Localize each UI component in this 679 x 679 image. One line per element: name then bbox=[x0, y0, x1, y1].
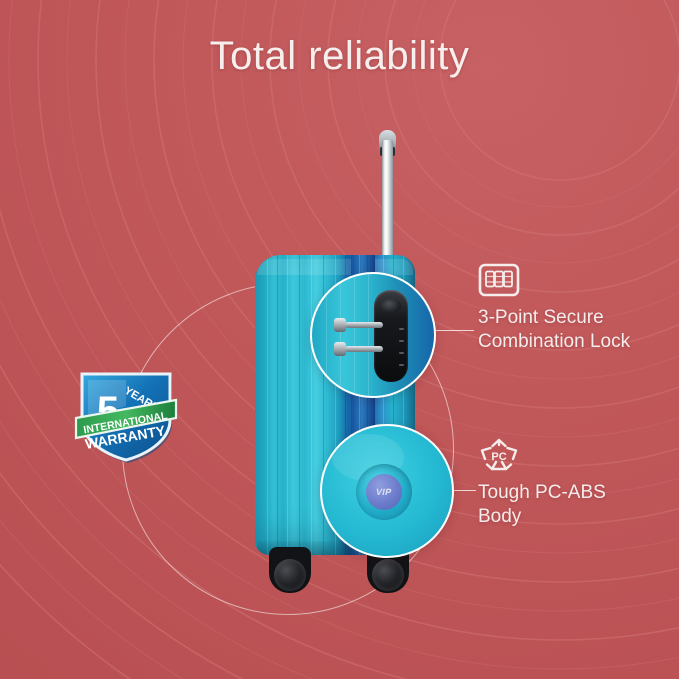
combination-lock-icon bbox=[478, 262, 520, 298]
zipper-pull-upper bbox=[345, 322, 383, 328]
magnifier-combination-lock bbox=[310, 272, 436, 398]
pc-recycle-icon: PC bbox=[478, 437, 520, 473]
zipper-pull-lower bbox=[345, 346, 383, 352]
feature-combination-lock: 3-Point Secure Combination Lock bbox=[478, 262, 630, 355]
combination-lock-hardware bbox=[374, 290, 408, 382]
lock-dial bbox=[381, 299, 401, 313]
brand-logo-text: VIP bbox=[375, 487, 393, 497]
magnifier-pc-abs-body: VIP bbox=[320, 424, 454, 558]
spinner-wheel-left bbox=[269, 547, 311, 593]
warranty-badge: 5 YEARS INTERNATIONAL WARRANTY bbox=[74, 366, 178, 464]
logo-badge: VIP bbox=[366, 474, 402, 510]
product-feature-banner: Total reliability bbox=[0, 0, 679, 679]
feature-pc-abs-body: PC Tough PC-ABS Body bbox=[478, 437, 606, 530]
feature-label: Tough PC-ABS Body bbox=[478, 481, 606, 530]
connector-line-body bbox=[452, 490, 476, 491]
connector-line-lock bbox=[434, 330, 474, 331]
svg-text:PC: PC bbox=[491, 451, 506, 463]
logo-badge-ring: VIP bbox=[356, 464, 412, 520]
telescoping-handle bbox=[382, 140, 393, 270]
feature-label: 3-Point Secure Combination Lock bbox=[478, 306, 630, 355]
page-title: Total reliability bbox=[0, 34, 679, 79]
